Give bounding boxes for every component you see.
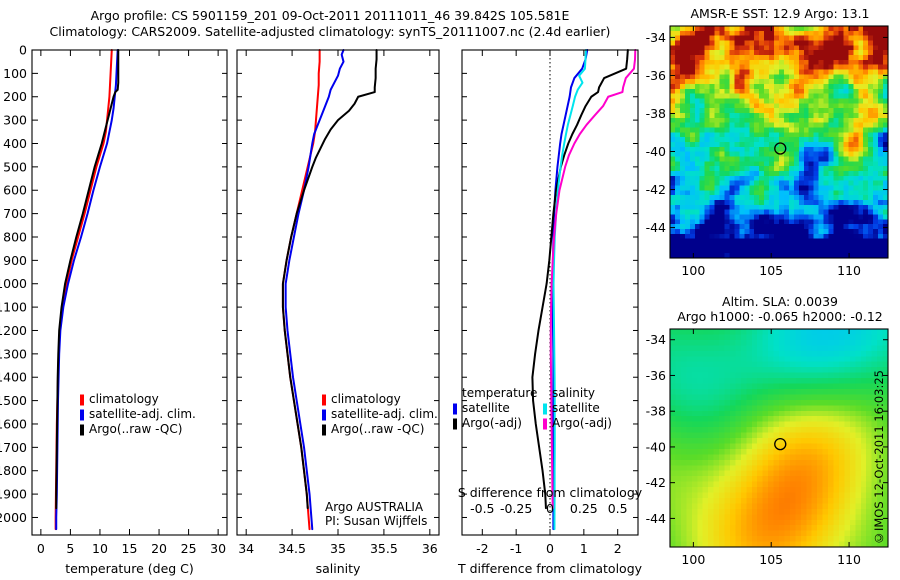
svg-text:34.5: 34.5 — [278, 541, 306, 556]
svg-text:1: 1 — [580, 541, 588, 556]
x-axis-label: salinity — [316, 561, 361, 576]
svg-text:1900: 1900 — [0, 487, 27, 502]
series-temperature-satellite — [553, 50, 588, 529]
svg-text:0.5: 0.5 — [608, 501, 628, 516]
series-argo-raw-qc- — [56, 50, 118, 508]
svg-text:1000: 1000 — [0, 276, 27, 291]
svg-text:-40: -40 — [646, 144, 666, 159]
svg-text:400: 400 — [3, 136, 27, 151]
svg-text:800: 800 — [3, 229, 27, 244]
sla-map-title-line-1: Altim. SLA: 0.0039 — [722, 294, 838, 309]
legend-label: satellite-adj. clim. — [331, 407, 438, 421]
legend-label: Argo(..raw -QC) — [331, 422, 424, 436]
svg-text:1400: 1400 — [0, 370, 27, 385]
svg-text:1500: 1500 — [0, 393, 27, 408]
legend-label: climatology — [89, 392, 159, 406]
credit-text: ©IMOS 12-Oct-2011 16:03:25 — [872, 370, 886, 545]
svg-text:1300: 1300 — [0, 346, 27, 361]
sst-map[interactable]: AMSR-E SST: 12.9 Argo: 13.1100105110-34-… — [660, 0, 900, 295]
legend-label: satellite — [552, 401, 600, 415]
svg-text:105: 105 — [759, 552, 783, 567]
legend-label: satellite — [462, 401, 510, 415]
svg-text:100: 100 — [3, 66, 27, 81]
svg-text:-38: -38 — [646, 404, 666, 419]
svg-text:-0.25: -0.25 — [500, 501, 532, 516]
svg-text:36: 36 — [422, 541, 438, 556]
svg-text:-34: -34 — [646, 30, 666, 45]
svg-text:2000: 2000 — [0, 510, 27, 525]
legend-label: satellite-adj. clim. — [89, 407, 196, 421]
svg-text:-42: -42 — [646, 475, 666, 490]
svg-text:-36: -36 — [646, 68, 666, 83]
svg-text:-36: -36 — [646, 368, 666, 383]
svg-text:35: 35 — [330, 541, 346, 556]
legend-label: climatology — [331, 392, 401, 406]
legend-label: Argo(..raw -QC) — [89, 422, 182, 436]
svg-text:1600: 1600 — [0, 416, 27, 431]
legend-swatch — [80, 410, 84, 421]
svg-text:0: 0 — [546, 541, 554, 556]
svg-text:-0.5: -0.5 — [470, 501, 494, 516]
series-salinity-satellite — [554, 50, 586, 529]
svg-text:700: 700 — [3, 206, 27, 221]
svg-text:-44: -44 — [646, 220, 666, 235]
temperature-plot[interactable]: 0100200300400500600700800900100011001200… — [0, 36, 240, 580]
argo-profile-figure: Argo profile: CS 5901159_201 09-Oct-2011… — [0, 0, 900, 580]
salinity-plot[interactable]: 3434.53535.536salinityclimatologysatelli… — [215, 36, 460, 580]
svg-text:-34: -34 — [646, 332, 666, 347]
svg-text:-42: -42 — [646, 182, 666, 197]
svg-text:100: 100 — [681, 552, 705, 567]
plot-frame — [237, 50, 439, 535]
svg-text:1100: 1100 — [0, 300, 27, 315]
legend-label: Argo(-adj) — [462, 416, 522, 430]
series-satellite-adj-clim- — [286, 50, 344, 529]
sst-map-panel: AMSR-E SST: 12.9 Argo: 13.1100105110-34-… — [660, 0, 900, 295]
svg-text:20: 20 — [151, 541, 167, 556]
pi-note: PI: Susan Wijffels — [325, 514, 427, 528]
sla-map[interactable]: Altim. SLA: 0.0039Argo h1000: -0.065 h20… — [660, 292, 900, 580]
legend-swatch — [322, 425, 326, 436]
legend-swatch — [543, 419, 547, 430]
x-axis-label: T difference from climatology — [457, 561, 643, 576]
sla-map-title-line-2: Argo h1000: -0.065 h2000: -0.12 — [677, 309, 882, 324]
series-salinity-argo-adj- — [551, 50, 635, 508]
sla-map-panel: Altim. SLA: 0.0039Argo h1000: -0.065 h20… — [660, 292, 900, 580]
svg-text:-1: -1 — [510, 541, 522, 556]
svg-text:900: 900 — [3, 253, 27, 268]
title-line-1: Argo profile: CS 5901159_201 09-Oct-2011… — [0, 8, 660, 24]
legend-swatch — [453, 419, 457, 430]
legend-swatch — [322, 410, 326, 421]
plot-frame — [32, 50, 227, 535]
svg-text:1800: 1800 — [0, 463, 27, 478]
svg-text:100: 100 — [681, 263, 705, 278]
svg-text:500: 500 — [3, 159, 27, 174]
legend-heading: salinity — [552, 386, 595, 400]
svg-text:10: 10 — [92, 541, 108, 556]
svg-text:-2: -2 — [476, 541, 488, 556]
series-temperature-argo-adj- — [532, 50, 627, 508]
temperature-panel: 0100200300400500600700800900100011001200… — [0, 36, 240, 580]
salinity-panel: 3434.53535.536salinityclimatologysatelli… — [215, 36, 460, 580]
secondary-axis-label: S difference from climatology — [458, 485, 643, 500]
series-climatology — [283, 50, 320, 529]
svg-text:5: 5 — [66, 541, 74, 556]
svg-text:0.25: 0.25 — [570, 501, 598, 516]
svg-text:0: 0 — [546, 501, 554, 516]
difference-plot[interactable]: -2-1012-0.5-0.2500.250.5S difference fro… — [440, 36, 665, 580]
svg-text:0: 0 — [19, 43, 27, 58]
legend-swatch — [80, 425, 84, 436]
svg-text:1200: 1200 — [0, 323, 27, 338]
sst-map-title: AMSR-E SST: 12.9 Argo: 13.1 — [690, 6, 869, 21]
agency-note: Argo AUSTRALIA — [325, 500, 424, 514]
difference-panel: -2-1012-0.5-0.2500.250.5S difference fro… — [440, 36, 665, 580]
svg-text:34: 34 — [238, 541, 254, 556]
svg-text:-44: -44 — [646, 511, 666, 526]
svg-text:15: 15 — [122, 541, 138, 556]
svg-text:105: 105 — [759, 263, 783, 278]
svg-text:2: 2 — [614, 541, 622, 556]
x-axis-label: temperature (deg C) — [65, 561, 194, 576]
svg-text:1700: 1700 — [0, 440, 27, 455]
legend-heading: temperature — [462, 386, 537, 400]
credit-label: ©IMOS 12-Oct-2011 16:03:25 — [872, 370, 886, 550]
svg-text:110: 110 — [837, 552, 861, 567]
legend-label: Argo(-adj) — [552, 416, 612, 430]
svg-text:600: 600 — [3, 183, 27, 198]
legend-swatch — [453, 404, 457, 415]
svg-text:200: 200 — [3, 89, 27, 104]
svg-text:110: 110 — [837, 263, 861, 278]
svg-text:300: 300 — [3, 113, 27, 128]
svg-text:0: 0 — [37, 541, 45, 556]
svg-text:25: 25 — [181, 541, 197, 556]
legend-swatch — [322, 395, 326, 406]
legend-swatch — [80, 395, 84, 406]
svg-text:-40: -40 — [646, 439, 666, 454]
svg-text:35.5: 35.5 — [370, 541, 398, 556]
legend-swatch — [543, 404, 547, 415]
svg-text:-38: -38 — [646, 106, 666, 121]
series-argo-raw-qc- — [283, 50, 377, 508]
